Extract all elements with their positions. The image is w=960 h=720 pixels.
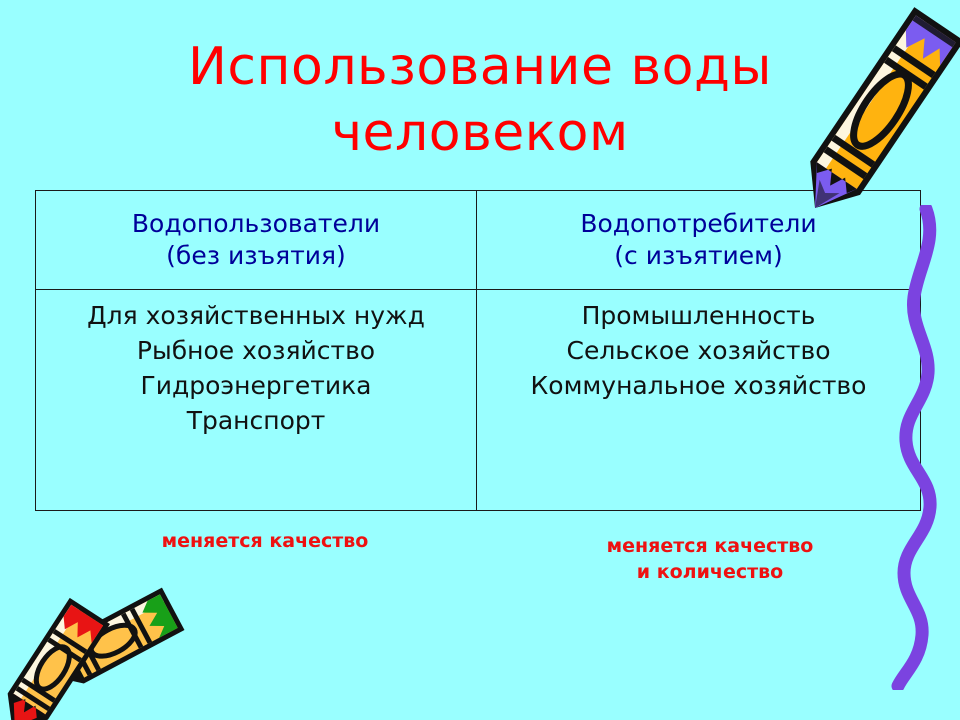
table-header-cell-water-consumers: Водопотребители (с изъятием) — [477, 191, 921, 290]
table-header-cell-water-users: Водопользователи (без изъятия) — [36, 191, 477, 290]
water-usage-table: Водопользователи (без изъятия) Водопотре… — [35, 190, 921, 511]
caption-quality-and-quantity-changes: меняется качество и количество — [520, 533, 900, 585]
table-row: Для хозяйственных нужд Рыбное хозяйство … — [36, 290, 921, 511]
water-consumers-item-list: Промышленность Сельское хозяйство Коммун… — [477, 290, 920, 403]
caption-quality-changes: меняется качество — [95, 528, 435, 554]
table-header-row: Водопользователи (без изъятия) Водопотре… — [36, 191, 921, 290]
crayon-icon-green — [37, 588, 185, 697]
table-cell-water-consumers-items: Промышленность Сельское хозяйство Коммун… — [477, 290, 921, 511]
water-users-item-list: Для хозяйственных нужд Рыбное хозяйство … — [36, 290, 476, 438]
water-usage-table-wrapper: Водопользователи (без изъятия) Водопотре… — [35, 190, 918, 508]
slide-canvas: Использование воды человеком Водопользов… — [0, 0, 960, 720]
table-cell-water-users-items: Для хозяйственных нужд Рыбное хозяйство … — [36, 290, 477, 511]
crayon-icon-red — [0, 598, 110, 720]
page-title: Использование воды человеком — [0, 34, 960, 166]
crayon-pair-icon — [0, 568, 234, 720]
table-header-label-water-users: Водопользователи (без изъятия) — [36, 208, 476, 272]
table-header-label-water-consumers: Водопотребители (с изъятием) — [477, 208, 920, 272]
